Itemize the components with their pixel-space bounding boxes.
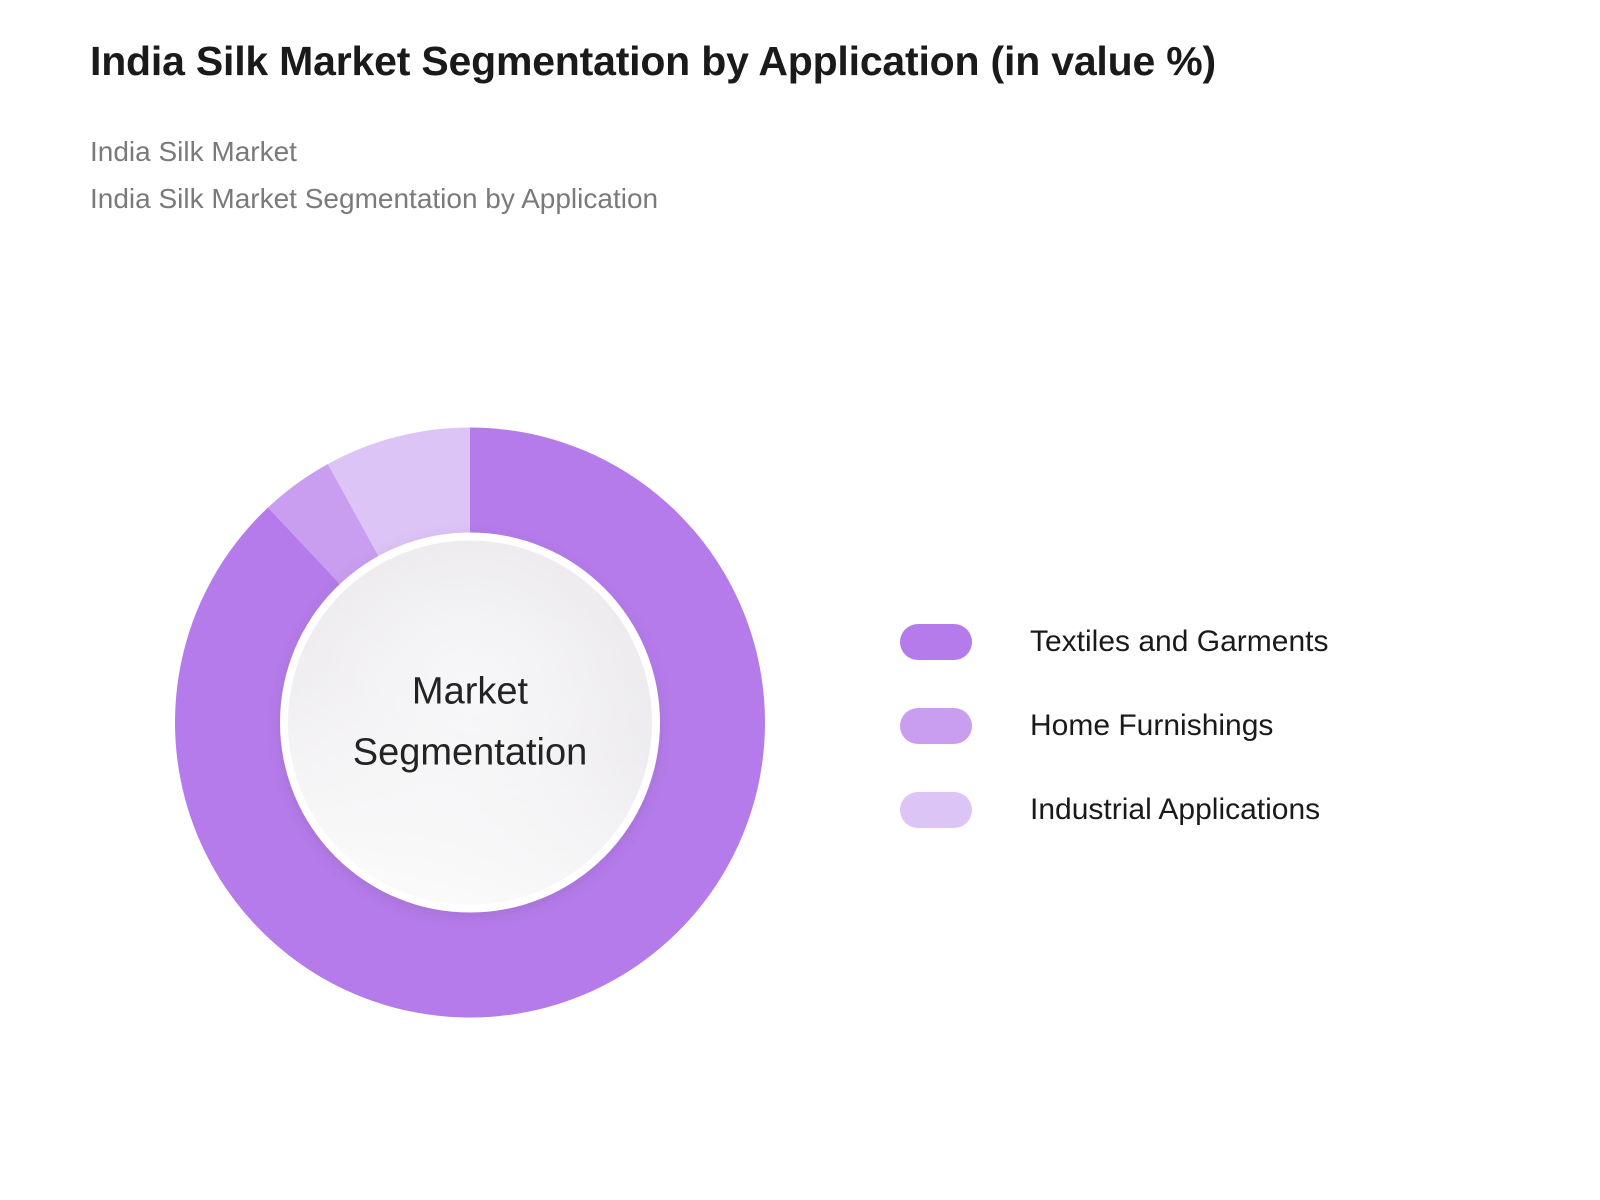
subtitle-line-1: India Silk Market [90, 128, 1520, 175]
page-title: India Silk Market Segmentation by Applic… [90, 38, 1520, 85]
donut-svg [175, 427, 765, 1018]
legend-item-home-furnishings[interactable]: Home Furnishings [900, 684, 1460, 768]
chart-header: India Silk Market Segmentation by Applic… [90, 38, 1520, 222]
legend-swatch-icon-1 [900, 708, 972, 744]
legend-label-2: Industrial Applications [1030, 793, 1320, 827]
donut-center-disc [280, 533, 660, 913]
legend-label-1: Home Furnishings [1030, 709, 1273, 743]
donut-chart: Market Segmentation [175, 427, 765, 1018]
legend-swatch-icon-0 [900, 624, 972, 660]
chart-legend: Textiles and Garments Home Furnishings I… [900, 600, 1460, 852]
subtitle-line-2: India Silk Market Segmentation by Applic… [90, 175, 1520, 222]
chart-page: India Silk Market Segmentation by Applic… [0, 0, 1600, 1200]
legend-label-0: Textiles and Garments [1030, 625, 1328, 659]
legend-swatch-icon-2 [900, 792, 972, 828]
legend-item-industrial-applications[interactable]: Industrial Applications [900, 768, 1460, 852]
legend-item-textiles-and-garments[interactable]: Textiles and Garments [900, 600, 1460, 684]
subtitle-block: India Silk Market India Silk Market Segm… [90, 128, 1520, 222]
